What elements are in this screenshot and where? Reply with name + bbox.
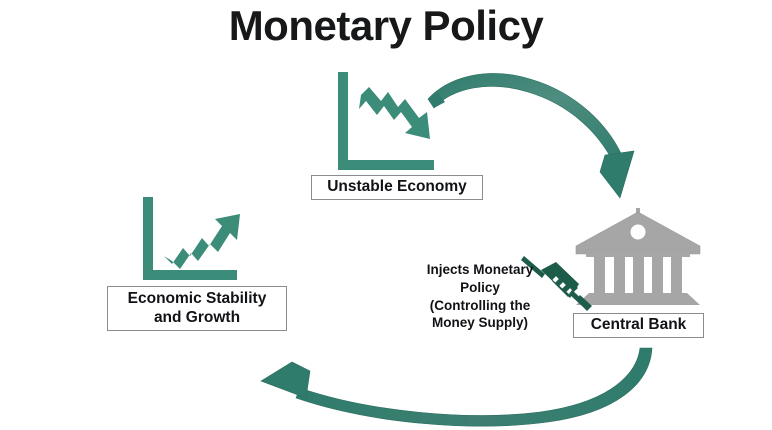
connector-annotation-injects-monetary-policy: Injects Monetary Policy (Controlling the… (392, 261, 568, 332)
declining-chart-icon (338, 72, 434, 170)
bank-building-icon (576, 208, 700, 305)
economic-stability-label-line2: and Growth (154, 309, 240, 327)
inject-text-line2: Policy (392, 279, 568, 297)
unstable-economy-label: Unstable Economy (327, 178, 467, 196)
inject-text-line4: Money Supply) (392, 314, 568, 332)
arrow-bottom-bank-to-stability (261, 348, 652, 426)
monetary-policy-diagram: Monetary Policy (0, 0, 772, 430)
node-label-economic-stability: Economic Stability and Growth (107, 286, 287, 331)
economic-stability-label-line1: Economic Stability (128, 290, 267, 308)
rising-chart-icon (143, 197, 240, 280)
central-bank-label: Central Bank (591, 316, 687, 334)
node-label-central-bank: Central Bank (573, 313, 704, 338)
inject-text-line3: (Controlling the (392, 297, 568, 315)
node-label-unstable-economy: Unstable Economy (311, 175, 483, 200)
diagram-graphics-layer (0, 0, 772, 430)
inject-text-line1: Injects Monetary (392, 261, 568, 279)
